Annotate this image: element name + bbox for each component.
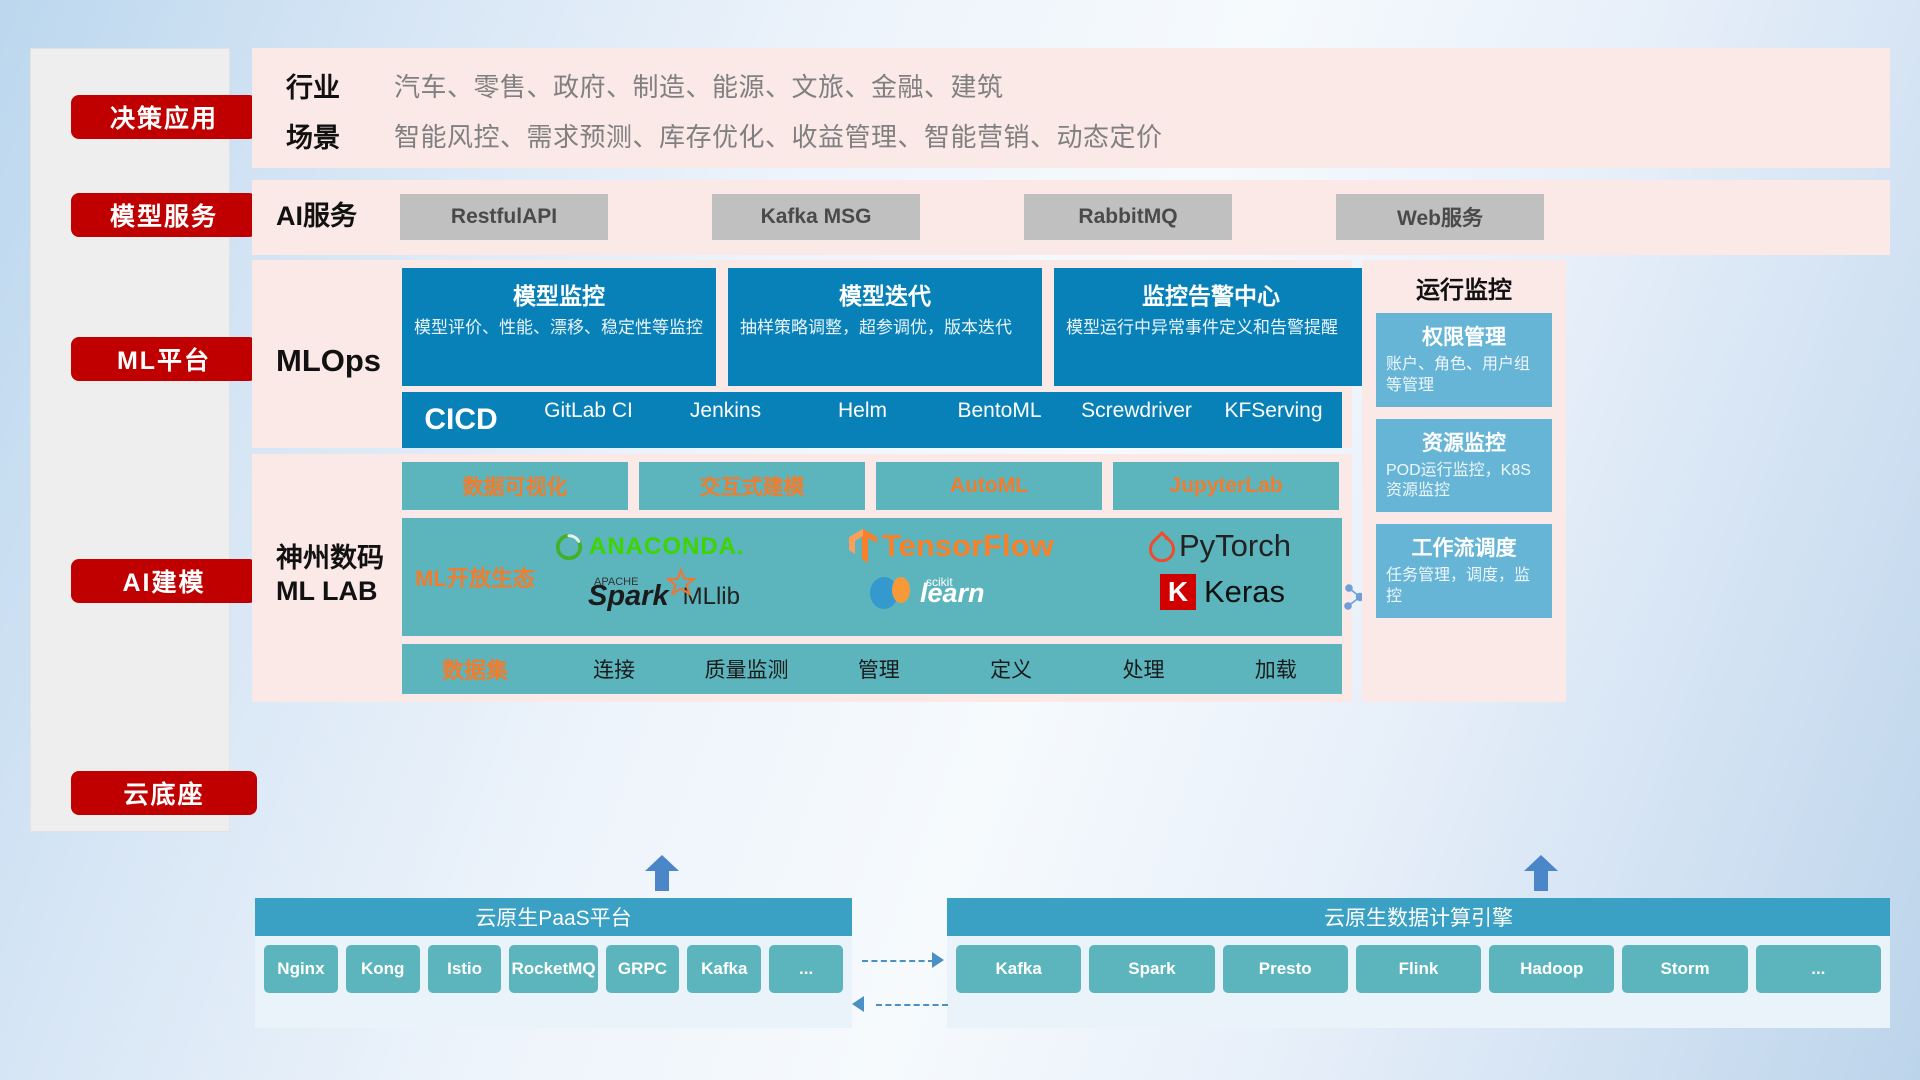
card-desc: 账户、角色、用户组等管理 [1386, 355, 1542, 397]
dataset-item-connect[interactable]: 连接 [548, 654, 680, 684]
ml-lab-panel: 神州数码 ML LAB 数据可视化 交互式建模 AutoML JupyterLa… [252, 454, 1352, 702]
keras-wordmark: Keras [1204, 574, 1285, 610]
tab-automl[interactable]: AutoML [876, 462, 1102, 510]
dataset-item-load[interactable]: 加载 [1210, 654, 1342, 684]
tab-interactive-modeling[interactable]: 交互式建模 [639, 462, 865, 510]
dataset-item-list: 连接 质量监测 管理 定义 处理 加载 [548, 654, 1342, 684]
cloud-native-data-engine-title: 云原生数据计算引擎 [947, 898, 1890, 936]
spark-mllib-logo: APACHE Spark MLlib [588, 580, 740, 613]
arrow-up-data-engine [1524, 855, 1558, 891]
connector-left-arrowhead [852, 996, 864, 1012]
layer-chip-ai-modeling[interactable]: AI建模 [71, 559, 257, 603]
card-title: 模型迭代 [740, 277, 1030, 311]
anaconda-logo: ANACONDA. [554, 532, 745, 562]
paas-chip-rocketmq[interactable]: RocketMQ [509, 945, 597, 993]
cicd-tool-screwdriver[interactable]: Screwdriver [1068, 398, 1205, 442]
dataset-label: 数据集 [402, 653, 548, 685]
ml-ecosystem-label: ML开放生态 [402, 561, 548, 593]
card-title: 监控告警中心 [1066, 277, 1356, 311]
card-desc: POD运行监控，K8S资源监控 [1386, 461, 1542, 503]
keras-logo: K Keras [1160, 574, 1285, 610]
scenario-row: 场景 智能风控、需求预测、库存优化、收益管理、智能营销、动态定价 [286, 116, 1163, 155]
layer-rail: 决策应用 模型服务 ML平台 AI建模 云底座 [30, 48, 230, 832]
mlops-panel: MLOps 模型监控 模型评价、性能、漂移、稳定性等监控 模型迭代 抽样策略调整… [252, 260, 1352, 448]
paas-chip-kong[interactable]: Kong [346, 945, 420, 993]
tensorflow-wordmark: TensorFlow [882, 528, 1054, 564]
layer-chip-label: 决策应用 [110, 99, 218, 135]
cicd-label: CICD [402, 403, 520, 437]
dataset-item-manage[interactable]: 管理 [813, 654, 945, 684]
card-desc: 模型运行中异常事件定义和告警提醒 [1066, 317, 1356, 339]
arrow-shaft [1534, 869, 1548, 891]
arrow-shaft [655, 869, 669, 891]
scenario-values: 智能风控、需求预测、库存优化、收益管理、智能营销、动态定价 [394, 117, 1163, 154]
ml-ecosystem-bar: ML开放生态 ANACONDA. TensorFlow [402, 518, 1342, 636]
pytorch-wordmark: PyTorch [1179, 528, 1291, 564]
engine-chip-storm[interactable]: Storm [1622, 945, 1747, 993]
card-desc: 任务管理，调度，监控 [1386, 566, 1542, 608]
ml-lab-tab-list: 数据可视化 交互式建模 AutoML JupyterLab [402, 462, 1339, 510]
service-chip-kafka-msg[interactable]: Kafka MSG [712, 194, 920, 240]
data-engine-chip-list: Kafka Spark Presto Flink Hadoop Storm ..… [947, 936, 1890, 1002]
paas-chip-more[interactable]: ... [769, 945, 843, 993]
cicd-tool-helm[interactable]: Helm [794, 398, 931, 442]
scikit-small-label: scikit [926, 575, 953, 589]
dataset-item-process[interactable]: 处理 [1077, 654, 1209, 684]
dataset-bar: 数据集 连接 质量监测 管理 定义 处理 加载 [402, 644, 1342, 694]
cloud-native-data-engine-box: 云原生数据计算引擎 Kafka Spark Presto Flink Hadoo… [947, 898, 1890, 1028]
engine-chip-spark[interactable]: Spark [1089, 945, 1214, 993]
monitoring-card-workflow[interactable]: 工作流调度 任务管理，调度，监控 [1376, 524, 1552, 618]
engine-chip-hadoop[interactable]: Hadoop [1489, 945, 1614, 993]
ai-service-panel: AI服务 RestfulAPI Kafka MSG RabbitMQ Web服务 [252, 180, 1890, 255]
cloud-native-paas-title: 云原生PaaS平台 [255, 898, 852, 936]
paas-chip-list: Nginx Kong Istio RocketMQ GRPC Kafka ... [255, 936, 852, 1002]
tab-jupyterlab[interactable]: JupyterLab [1113, 462, 1339, 510]
ai-service-chip-list: RestfulAPI Kafka MSG RabbitMQ Web服务 [400, 194, 1880, 240]
scikit-learn-logo: scikit learn [868, 576, 985, 610]
card-title: 资源监控 [1386, 427, 1542, 457]
mlops-card-model-iteration[interactable]: 模型迭代 抽样策略调整，超参调优，版本迭代 [728, 268, 1042, 386]
runtime-monitoring-panel: 运行监控 权限管理 账户、角色、用户组等管理 资源监控 POD运行监控，K8S资… [1362, 260, 1566, 702]
layer-chip-cloud-base[interactable]: 云底座 [71, 771, 257, 815]
layer-chip-label: AI建模 [122, 563, 205, 599]
cicd-bar: CICD GitLab CI Jenkins Helm BentoML Scre… [402, 392, 1342, 448]
dataset-item-define[interactable]: 定义 [945, 654, 1077, 684]
card-desc: 模型评价、性能、漂移、稳定性等监控 [414, 317, 704, 339]
cicd-tool-jenkins[interactable]: Jenkins [657, 398, 794, 442]
cloud-native-paas-box: 云原生PaaS平台 Nginx Kong Istio RocketMQ GRPC… [255, 898, 852, 1028]
mlops-label: MLOps [276, 342, 381, 380]
business-scenario-panel: 行业 汽车、零售、政府、制造、能源、文旅、金融、建筑 场景 智能风控、需求预测、… [252, 48, 1890, 168]
industry-values: 汽车、零售、政府、制造、能源、文旅、金融、建筑 [394, 67, 1004, 104]
engine-chip-kafka[interactable]: Kafka [956, 945, 1081, 993]
card-title: 模型监控 [414, 277, 704, 311]
pytorch-icon [1148, 530, 1176, 562]
industry-label: 行业 [286, 66, 394, 105]
engine-chip-more[interactable]: ... [1756, 945, 1881, 993]
keras-mark: K [1160, 574, 1196, 610]
pytorch-logo: PyTorch [1148, 528, 1291, 564]
ai-service-label: AI服务 [276, 200, 357, 233]
paas-chip-grpc[interactable]: GRPC [606, 945, 680, 993]
layer-chip-decision[interactable]: 决策应用 [71, 95, 257, 139]
mlops-card-alert-center[interactable]: 监控告警中心 模型运行中异常事件定义和告警提醒 [1054, 268, 1368, 386]
cicd-tool-list: GitLab CI Jenkins Helm BentoML Screwdriv… [520, 398, 1342, 442]
card-title: 工作流调度 [1386, 532, 1542, 562]
card-desc: 抽样策略调整，超参调优，版本迭代 [740, 317, 1030, 339]
card-title: 权限管理 [1386, 321, 1542, 351]
cicd-tool-kfserving[interactable]: KFServing [1205, 398, 1342, 442]
paas-chip-nginx[interactable]: Nginx [264, 945, 338, 993]
tensorflow-icon [848, 528, 878, 564]
tensorflow-logo: TensorFlow [848, 528, 1054, 564]
engine-chip-presto[interactable]: Presto [1223, 945, 1348, 993]
engine-chip-flink[interactable]: Flink [1356, 945, 1481, 993]
service-chip-web[interactable]: Web服务 [1336, 194, 1544, 240]
runtime-monitoring-title: 运行监控 [1362, 260, 1566, 313]
mlops-card-model-monitoring[interactable]: 模型监控 模型评价、性能、漂移、稳定性等监控 [402, 268, 716, 386]
paas-chip-istio[interactable]: Istio [428, 945, 502, 993]
cicd-tool-gitlab-ci[interactable]: GitLab CI [520, 398, 657, 442]
ml-ecosystem-logo-group: ANACONDA. TensorFlow PyTorch [548, 518, 1342, 636]
architecture-diagram: 决策应用 模型服务 ML平台 AI建模 云底座 行业 汽车、零售、政府、制造、能… [0, 0, 1920, 1080]
ml-lab-label: 神州数码 ML LAB [276, 542, 384, 608]
tab-data-visualization[interactable]: 数据可视化 [402, 462, 628, 510]
anaconda-icon [554, 532, 584, 562]
anaconda-wordmark: ANACONDA. [589, 533, 745, 561]
monitoring-card-permission[interactable]: 权限管理 账户、角色、用户组等管理 [1376, 313, 1552, 407]
scikit-blob-icon [868, 576, 910, 610]
layer-chip-ml-platform[interactable]: ML平台 [71, 337, 257, 381]
spark-star-icon [666, 568, 696, 598]
industry-row: 行业 汽车、零售、政府、制造、能源、文旅、金融、建筑 [286, 66, 1004, 105]
service-chip-restfulapi[interactable]: RestfulAPI [400, 194, 608, 240]
scenario-label: 场景 [286, 116, 394, 155]
layer-chip-label: 云底座 [123, 775, 204, 811]
layer-chip-model-service[interactable]: 模型服务 [71, 193, 257, 237]
service-chip-rabbitmq[interactable]: RabbitMQ [1024, 194, 1232, 240]
spark-apache-label: APACHE [594, 576, 638, 588]
cicd-tool-bentoml[interactable]: BentoML [931, 398, 1068, 442]
monitoring-card-resource[interactable]: 资源监控 POD运行监控，K8S资源监控 [1376, 419, 1552, 513]
mlops-card-list: 模型监控 模型评价、性能、漂移、稳定性等监控 模型迭代 抽样策略调整，超参调优，… [402, 268, 1368, 386]
layer-chip-label: ML平台 [117, 341, 211, 377]
connector-left-dashed [876, 1004, 948, 1006]
dataset-item-quality[interactable]: 质量监测 [680, 654, 812, 684]
keras-mark-letter: K [1168, 576, 1188, 608]
arrow-up-paas [645, 855, 679, 891]
connector-right-dashed [862, 960, 934, 962]
paas-chip-kafka[interactable]: Kafka [687, 945, 761, 993]
layer-chip-label: 模型服务 [110, 197, 218, 233]
connector-right-arrowhead [932, 952, 944, 968]
